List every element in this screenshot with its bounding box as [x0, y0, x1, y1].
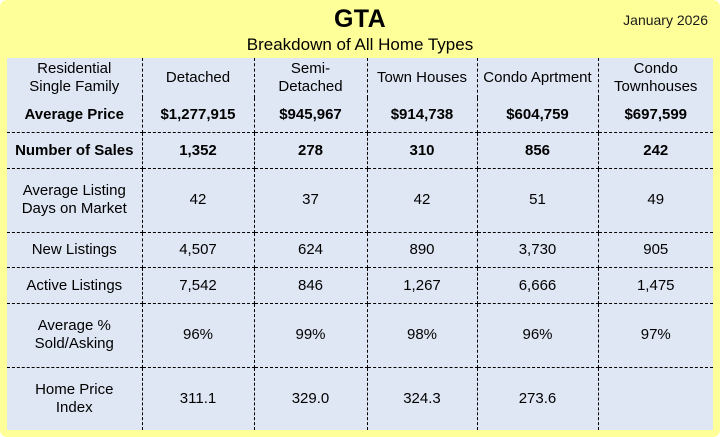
table-row: Average Listing Days on Market 42 37 42 … — [7, 169, 713, 233]
column-header-line-1: Condo Aprtment — [481, 69, 595, 87]
cell-number-of-sales-condo-townhouses: 242 — [598, 133, 713, 169]
stats-table-container: Residential Single Family Detached Semi-… — [7, 58, 713, 430]
column-header-line-2: Single Family — [10, 78, 139, 96]
row-label-new-listings: New Listings — [7, 232, 142, 268]
report-date: January 2026 — [623, 12, 708, 28]
cell-avg-days-town-houses: 42 — [367, 169, 477, 233]
column-header-line-1: Residential — [10, 60, 139, 78]
cell-new-listings-condo-apartment: 3,730 — [477, 232, 598, 268]
row-label-active-listings: Active Listings — [7, 268, 142, 304]
cell-sold-asking-semi-detached: 99% — [254, 304, 367, 368]
cell-hpi-detached: 311.1 — [142, 367, 254, 430]
row-label-line-1: Number of Sales — [10, 142, 139, 160]
cell-active-listings-semi-detached: 846 — [254, 268, 367, 304]
cell-new-listings-semi-detached: 624 — [254, 232, 367, 268]
cell-sold-asking-town-houses: 98% — [367, 304, 477, 368]
row-label-average-percent-sold-asking: Average % Sold/Asking — [7, 304, 142, 368]
cell-new-listings-town-houses: 890 — [367, 232, 477, 268]
table-row: Home Price Index 311.1 329.0 324.3 273.6 — [7, 367, 713, 430]
cell-avg-days-condo-apartment: 51 — [477, 169, 598, 233]
cell-active-listings-town-houses: 1,267 — [367, 268, 477, 304]
column-header-line-1: Detached — [146, 69, 251, 87]
cell-sold-asking-condo-townhouses: 97% — [598, 304, 713, 368]
cell-active-listings-condo-townhouses: 1,475 — [598, 268, 713, 304]
home-types-table: Residential Single Family Detached Semi-… — [7, 58, 713, 430]
market-stats-card: GTA January 2026 Breakdown of All Home T… — [0, 0, 720, 437]
row-label-number-of-sales: Number of Sales — [7, 133, 142, 169]
cell-active-listings-condo-apartment: 6,666 — [477, 268, 598, 304]
cell-number-of-sales-detached: 1,352 — [142, 133, 254, 169]
column-header-town-houses: Town Houses — [367, 58, 477, 98]
cell-average-price-condo-townhouses: $697,599 — [598, 98, 713, 133]
table-row: Average % Sold/Asking 96% 99% 98% 96% 97… — [7, 304, 713, 368]
table-row: Number of Sales 1,352 278 310 856 242 — [7, 133, 713, 169]
cell-hpi-condo-townhouses — [598, 367, 713, 430]
cell-number-of-sales-semi-detached: 278 — [254, 133, 367, 169]
row-label-line-1: Home Price — [10, 381, 139, 399]
cell-hpi-condo-apartment: 273.6 — [477, 367, 598, 430]
column-header-condo-apartment: Condo Aprtment — [477, 58, 598, 98]
page-subtitle: Breakdown of All Home Types — [0, 35, 720, 55]
table-row: Average Price $1,277,915 $945,967 $914,7… — [7, 98, 713, 133]
card-header-banner: GTA January 2026 Breakdown of All Home T… — [0, 0, 720, 58]
cell-avg-days-detached: 42 — [142, 169, 254, 233]
cell-avg-days-condo-townhouses: 49 — [598, 169, 713, 233]
cell-hpi-town-houses: 324.3 — [367, 367, 477, 430]
cell-number-of-sales-condo-apartment: 856 — [477, 133, 598, 169]
column-header-line-2: Detached — [258, 78, 364, 96]
column-header-line-2: Townhouses — [602, 78, 711, 96]
column-header-condo-townhouses: Condo Townhouses — [598, 58, 713, 98]
cell-average-price-condo-apartment: $604,759 — [477, 98, 598, 133]
row-label-line-1: Average Price — [10, 106, 139, 124]
cell-sold-asking-condo-apartment: 96% — [477, 304, 598, 368]
cell-hpi-semi-detached: 329.0 — [254, 367, 367, 430]
cell-avg-days-semi-detached: 37 — [254, 169, 367, 233]
row-label-home-price-index: Home Price Index — [7, 367, 142, 430]
row-label-line-1: Average % — [10, 317, 139, 335]
column-header-semi-detached: Semi- Detached — [254, 58, 367, 98]
cell-new-listings-condo-townhouses: 905 — [598, 232, 713, 268]
cell-sold-asking-detached: 96% — [142, 304, 254, 368]
column-header-line-1: Town Houses — [371, 69, 474, 87]
table-header-row: Residential Single Family Detached Semi-… — [7, 58, 713, 98]
row-label-line-1: Active Listings — [10, 277, 139, 295]
column-header-line-1: Condo — [602, 60, 711, 78]
row-label-line-2: Index — [10, 399, 139, 417]
table-row: Active Listings 7,542 846 1,267 6,666 1,… — [7, 268, 713, 304]
table-body: Average Price $1,277,915 $945,967 $914,7… — [7, 98, 713, 430]
page-title: GTA — [0, 5, 720, 33]
row-label-average-listing-days-on-market: Average Listing Days on Market — [7, 169, 142, 233]
row-label-average-price: Average Price — [7, 98, 142, 133]
row-label-line-1: Average Listing — [10, 182, 139, 200]
table-row: New Listings 4,507 624 890 3,730 905 — [7, 232, 713, 268]
cell-average-price-town-houses: $914,738 — [367, 98, 477, 133]
row-label-line-2: Days on Market — [10, 200, 139, 218]
table-header: Residential Single Family Detached Semi-… — [7, 58, 713, 98]
column-header-detached: Detached — [142, 58, 254, 98]
cell-new-listings-detached: 4,507 — [142, 232, 254, 268]
cell-average-price-semi-detached: $945,967 — [254, 98, 367, 133]
column-header-line-1: Semi- — [258, 60, 364, 78]
row-label-line-2: Sold/Asking — [10, 335, 139, 353]
cell-number-of-sales-town-houses: 310 — [367, 133, 477, 169]
column-header-residential-single-family: Residential Single Family — [7, 58, 142, 98]
cell-average-price-detached: $1,277,915 — [142, 98, 254, 133]
cell-active-listings-detached: 7,542 — [142, 268, 254, 304]
row-label-line-1: New Listings — [10, 241, 139, 259]
